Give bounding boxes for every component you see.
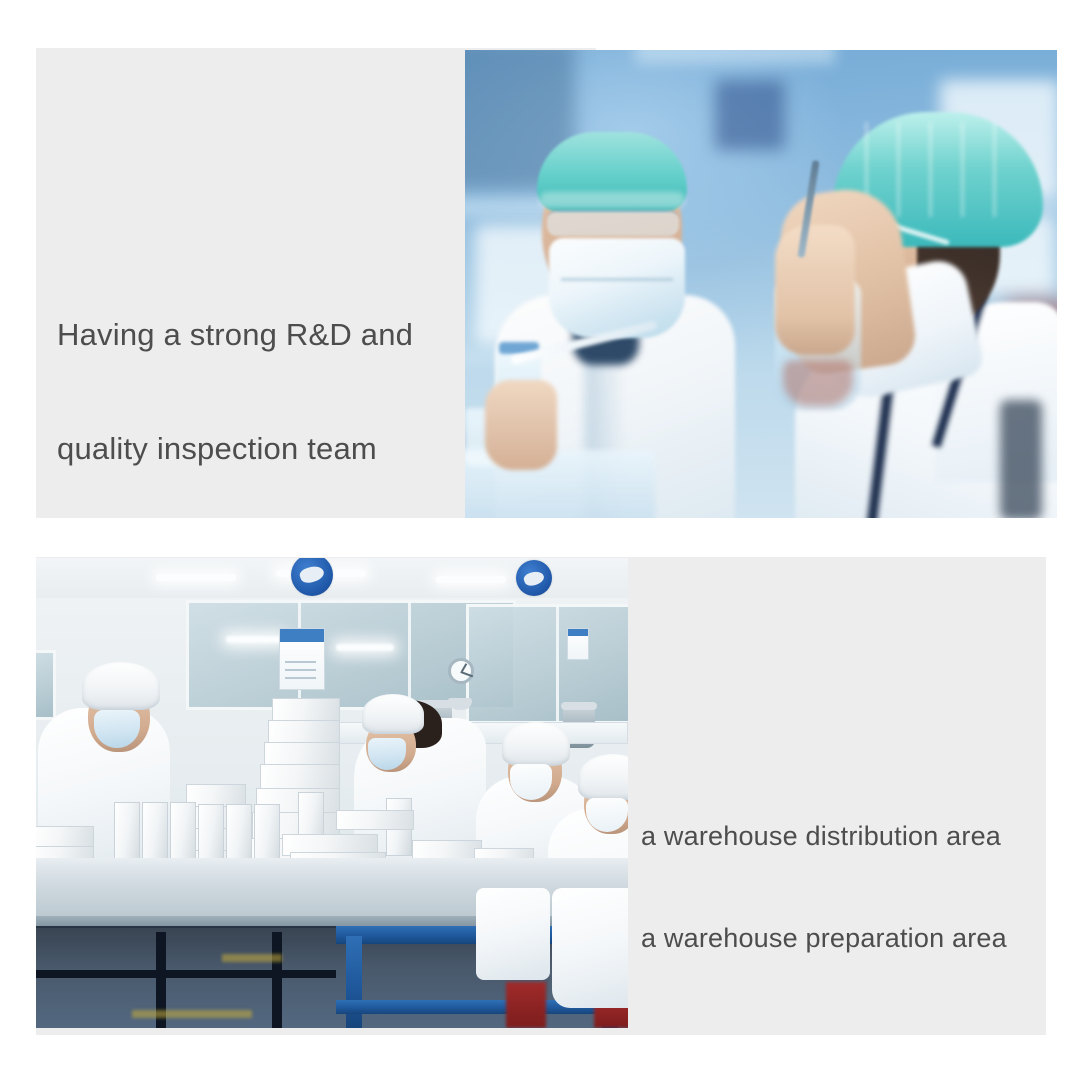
- collage-page: Having a strong R&D and quality inspecti…: [0, 0, 1080, 1080]
- window-interior-light: [226, 636, 284, 643]
- window-mullion: [408, 600, 411, 710]
- warehouse-photo: [36, 558, 628, 1028]
- wall-clock-icon: [448, 658, 474, 684]
- warehouse-caption-line-2: a warehouse preparation area: [641, 921, 1007, 955]
- technician-left-cap-band: [539, 192, 685, 208]
- worker-center-left-hairnet: [362, 694, 424, 734]
- table-frame-leg: [346, 936, 362, 1028]
- rnd-caption: Having a strong R&D and quality inspecti…: [57, 240, 413, 544]
- window-interior-light: [336, 644, 394, 651]
- cross-brace-shadow: [36, 970, 336, 978]
- warehouse-caption-line-1: a warehouse distribution area: [641, 819, 1007, 853]
- worker-right-coat-hem: [552, 888, 628, 1008]
- gloved-hand: [775, 225, 855, 355]
- cap-pleat: [993, 122, 996, 217]
- safety-sign-icon: [516, 560, 552, 596]
- sop-poster: [279, 628, 325, 690]
- stainless-container-lid: [561, 702, 597, 710]
- window-mullion: [556, 604, 559, 724]
- poster-header: [568, 629, 588, 636]
- lab-bg-blue-tray: [715, 80, 785, 150]
- poster-text-line: [285, 661, 316, 663]
- worker-center-right-hairnet: [502, 722, 570, 766]
- worker-left-hairnet: [82, 662, 160, 710]
- technician-left-mask-fold: [561, 278, 673, 281]
- red-object-under-table: [506, 982, 546, 1028]
- cap-pleat: [929, 122, 932, 217]
- technician-left-face-mask: [549, 238, 685, 338]
- carton-box-flat: [336, 810, 414, 830]
- side-window-left: [36, 650, 56, 720]
- ceiling-light: [436, 576, 506, 583]
- flask-liquid: [783, 360, 853, 406]
- pipetting-hand: [485, 380, 557, 470]
- worker-center-right-coat-hem: [476, 888, 550, 980]
- carton-box-flat: [36, 826, 94, 848]
- floor-marking: [222, 954, 282, 962]
- rnd-caption-line-2: quality inspection team: [57, 430, 413, 468]
- sop-poster: [567, 628, 589, 660]
- poster-header: [280, 629, 324, 642]
- warehouse-caption: a warehouse distribution area a warehous…: [641, 751, 1007, 1023]
- ceiling-light: [156, 574, 236, 581]
- floor-marking: [132, 1010, 252, 1018]
- table-leg-shadow: [272, 932, 282, 1028]
- cap-pleat: [961, 122, 964, 217]
- lab-photo: [465, 50, 1057, 518]
- technician-left-safety-glasses: [547, 210, 679, 236]
- cap-pleat: [897, 122, 900, 217]
- rnd-caption-line-1: Having a strong R&D and: [57, 316, 413, 354]
- poster-text-line: [285, 677, 316, 679]
- cleanroom-window-right: [466, 604, 628, 724]
- lab-bg-ceiling-strip: [635, 50, 835, 64]
- poster-text-line: [285, 669, 316, 671]
- lab-stand-post: [1000, 400, 1042, 518]
